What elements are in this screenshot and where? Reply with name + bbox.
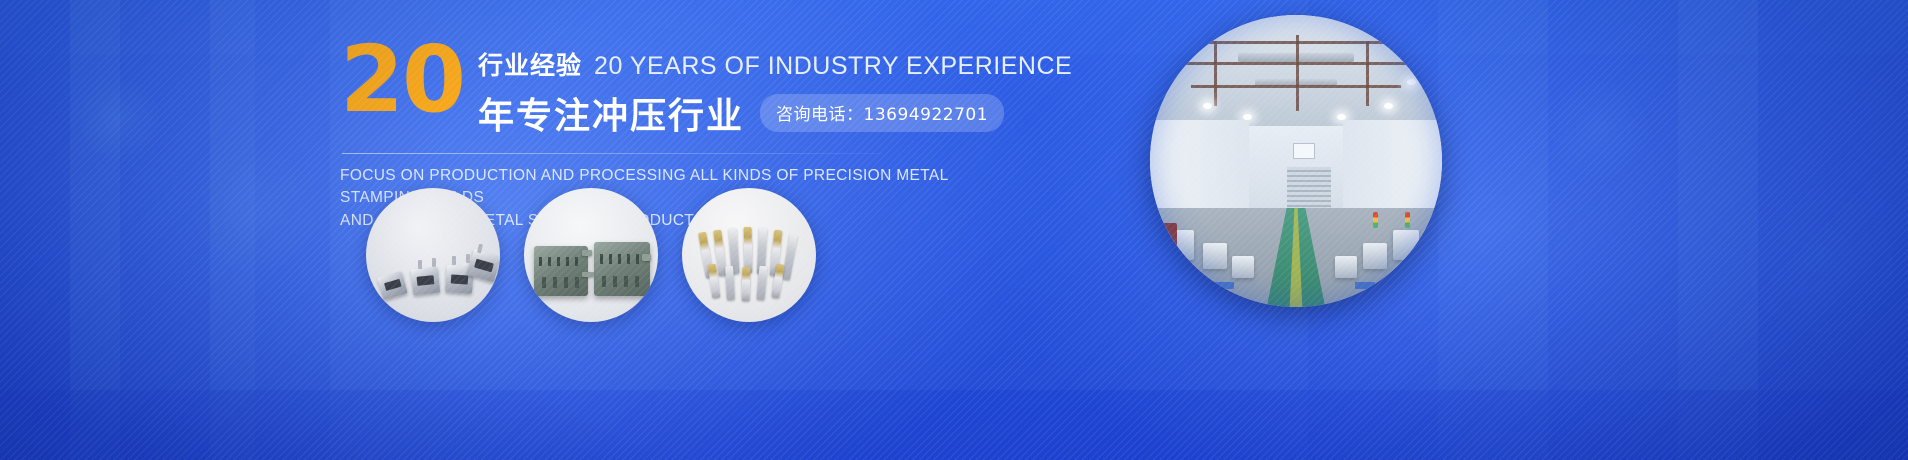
ceiling-lamp: [1203, 103, 1212, 109]
product-circle-metal-connector-shells[interactable]: [366, 188, 500, 322]
connector-pin: [432, 258, 436, 267]
pallet: [1391, 273, 1413, 281]
cn-tagline-big: 年专注冲压行业: [478, 87, 744, 139]
connector-pin: [418, 260, 422, 269]
stamping-die-icon: [534, 246, 588, 296]
pallet: [1355, 282, 1375, 289]
cn-tagline-small: 行业经验: [478, 46, 582, 82]
machine: [1393, 230, 1419, 260]
die-detail: [582, 250, 592, 256]
connector-shell-icon: [411, 267, 441, 296]
ceiling-truss: [1366, 41, 1369, 105]
contact-pin: [725, 266, 735, 300]
divider-rule: [342, 153, 882, 154]
machine: [1203, 243, 1227, 269]
connector-pin: [452, 256, 456, 265]
stamping-die-icon: [594, 242, 650, 296]
signal-tower: [1405, 212, 1410, 228]
connector-pin: [466, 254, 470, 263]
equipment-cabinet: [1159, 223, 1177, 249]
product-thumbnails: [366, 188, 816, 322]
machine: [1232, 256, 1254, 278]
machine: [1363, 243, 1387, 269]
ceiling-lamp: [1384, 103, 1393, 109]
ceiling-truss: [1214, 41, 1217, 105]
die-detail: [642, 254, 651, 261]
connector-shell-icon: [377, 271, 407, 300]
staircase: [1287, 167, 1331, 214]
die-detail: [582, 272, 594, 277]
machine: [1335, 256, 1357, 278]
back-window: [1293, 143, 1315, 159]
product-circle-precision-stamping-die[interactable]: [524, 188, 658, 322]
contact-pin: [742, 267, 751, 301]
factory-workshop-photo[interactable]: [1150, 15, 1442, 307]
factory-image: [1150, 15, 1442, 307]
promo-banner: 20 行业经验 20 YEARS OF INDUSTRY EXPERIENCE …: [0, 0, 1908, 460]
contact-pin: [782, 234, 798, 281]
en-tagline-small: 20 YEARS OF INDUSTRY EXPERIENCE: [594, 52, 1072, 81]
phone-badge[interactable]: 咨询电话：13694922701: [760, 94, 1004, 132]
years-number: 20: [340, 40, 464, 119]
pallet: [1214, 282, 1234, 289]
pallet: [1176, 273, 1198, 281]
ceiling-truss: [1296, 35, 1299, 111]
contact-pin: [757, 266, 768, 301]
product-circle-metal-contact-pins[interactable]: [682, 188, 816, 322]
signal-tower: [1373, 212, 1378, 228]
